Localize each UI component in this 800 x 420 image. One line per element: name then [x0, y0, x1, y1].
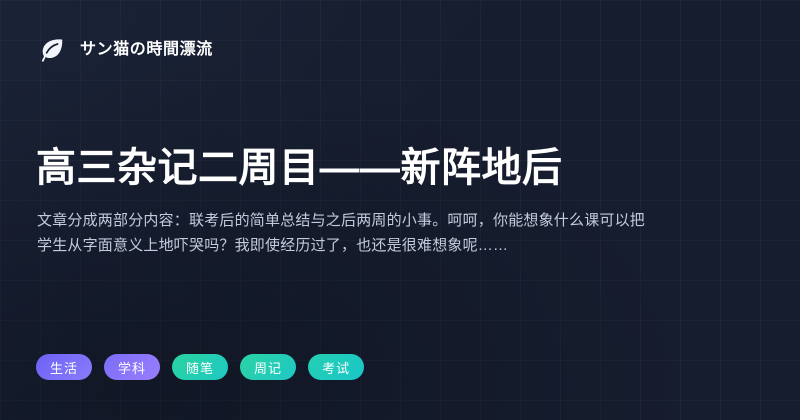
tag-chip[interactable]: 考试: [308, 354, 364, 380]
tag-chip[interactable]: 周记: [240, 354, 296, 380]
tag-label: 学科: [118, 358, 146, 377]
tag-label: 生活: [50, 358, 78, 377]
tag-label: 周记: [254, 358, 282, 377]
article-description: 文章分成两部分内容：联考后的简单总结与之后两周的小事。呵呵，你能想象什么课可以把…: [37, 208, 655, 258]
tag-chip[interactable]: 学科: [104, 354, 160, 380]
tag-chip[interactable]: 生活: [36, 354, 92, 380]
leaf-icon: [38, 36, 66, 64]
brand-title: サン猫の時間漂流: [80, 42, 213, 58]
tag-label: 随笔: [186, 358, 214, 377]
tag-label: 考试: [322, 358, 350, 377]
tag-chip[interactable]: 随笔: [172, 354, 228, 380]
tag-list: 生活学科随笔周记考试: [36, 354, 364, 380]
site-brand[interactable]: サン猫の時間漂流: [38, 36, 213, 64]
article-hero-banner: サン猫の時間漂流 高三杂记二周目——新阵地后 文章分成两部分内容：联考后的简单总…: [0, 0, 800, 420]
hero-content: サン猫の時間漂流 高三杂记二周目——新阵地后 文章分成两部分内容：联考后的简单总…: [0, 0, 800, 420]
page-title: 高三杂记二周目——新阵地后: [36, 145, 563, 191]
